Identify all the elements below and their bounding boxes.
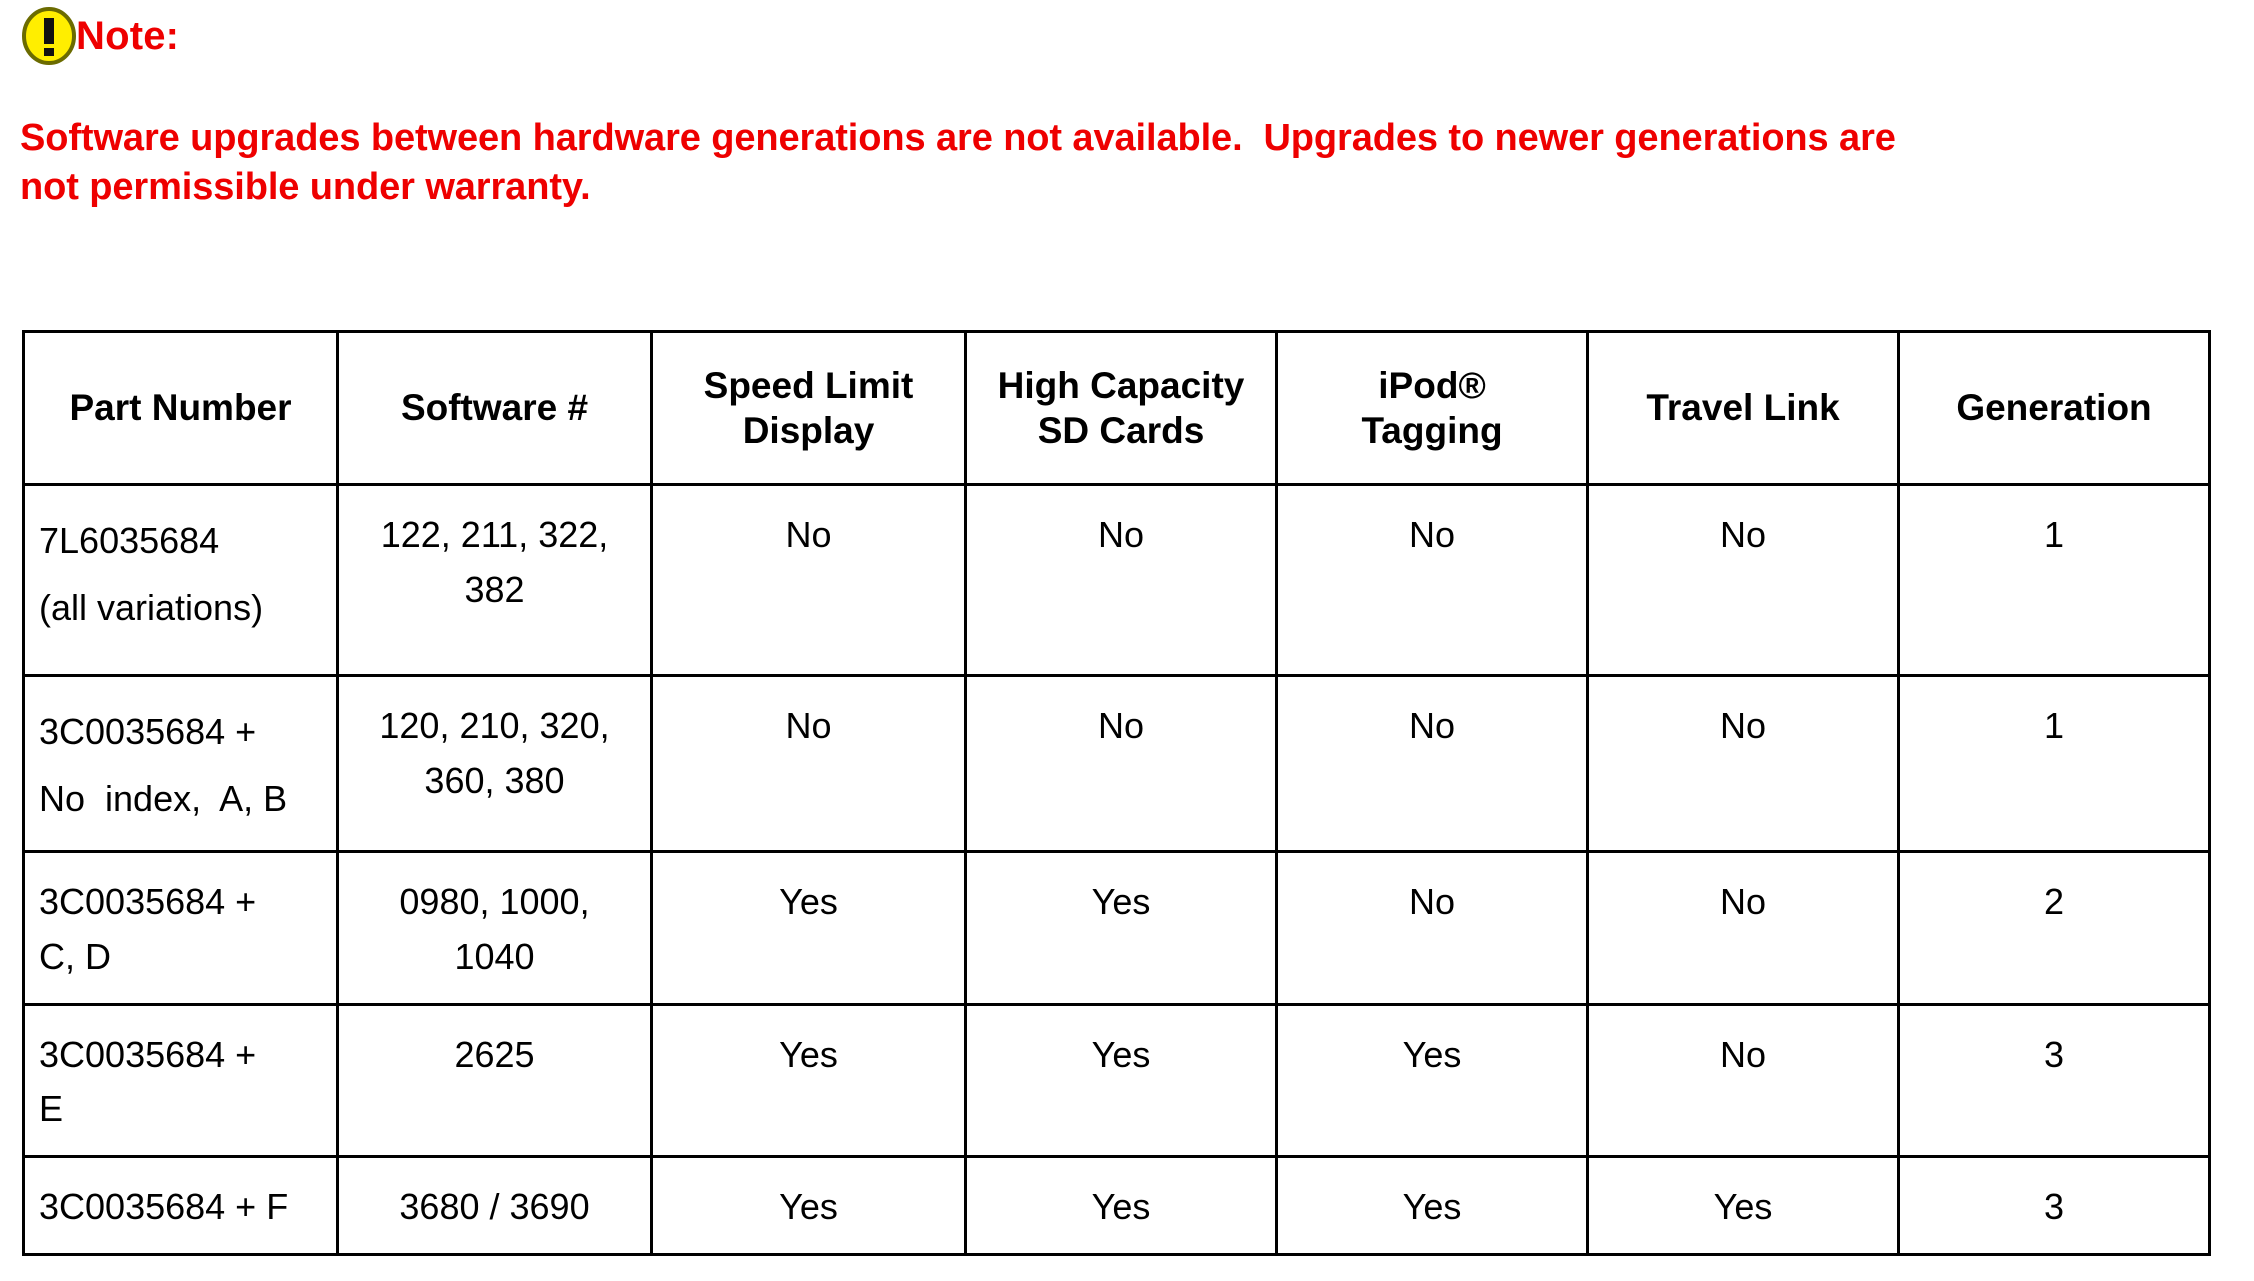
cell-generation: 1: [1899, 676, 2210, 852]
software-line-1: 2625: [353, 1028, 636, 1083]
column-header-high-capacity-sd-cards: High Capacity SD Cards: [966, 332, 1277, 485]
software-line-2: 1040: [353, 930, 636, 985]
cell-speed-limit-display: No: [652, 676, 966, 852]
cell-software-number: 3680 / 3690: [338, 1157, 652, 1255]
cell-part-number: 3C0035684 + No index, A, B: [24, 676, 338, 852]
software-line-1: 122, 211, 322,: [353, 508, 636, 563]
cell-software-number: 0980, 1000, 1040: [338, 852, 652, 1004]
table-row: 3C0035684 + F 3680 / 3690 Yes Yes Yes Ye…: [24, 1157, 2210, 1255]
cell-travel-link: No: [1588, 485, 1899, 676]
cell-high-capacity-sd-cards: No: [966, 676, 1277, 852]
part-number-line-2: E: [39, 1082, 322, 1137]
cell-speed-limit-display: Yes: [652, 852, 966, 1004]
table-row: 3C0035684 + No index, A, B 120, 210, 320…: [24, 676, 2210, 852]
cell-part-number: 3C0035684 + F: [24, 1157, 338, 1255]
part-number-line-1: 3C0035684 +: [39, 699, 322, 766]
software-line-2: 360, 380: [353, 754, 636, 809]
cell-ipod-tagging: No: [1277, 485, 1588, 676]
cell-high-capacity-sd-cards: Yes: [966, 1004, 1277, 1156]
note-heading: Note:: [18, 6, 179, 66]
column-header-speed-limit-display: Speed Limit Display: [652, 332, 966, 485]
cell-generation: 3: [1899, 1157, 2210, 1255]
part-number-line-1: 3C0035684 +: [39, 1028, 322, 1083]
software-line-1: 0980, 1000,: [353, 875, 636, 930]
cell-generation: 1: [1899, 485, 2210, 676]
cell-software-number: 120, 210, 320, 360, 380: [338, 676, 652, 852]
cell-part-number: 7L6035684 (all variations): [24, 485, 338, 676]
cell-high-capacity-sd-cards: No: [966, 485, 1277, 676]
cell-ipod-tagging: No: [1277, 852, 1588, 1004]
cell-travel-link: No: [1588, 1004, 1899, 1156]
column-header-software-number: Software #: [338, 332, 652, 485]
software-line-1: 120, 210, 320,: [353, 699, 636, 754]
part-number-line-1: 3C0035684 + F: [39, 1180, 322, 1235]
cell-travel-link: No: [1588, 676, 1899, 852]
part-number-line-1: 3C0035684 +: [39, 875, 322, 930]
column-header-travel-link: Travel Link: [1588, 332, 1899, 485]
compatibility-table-container: Part Number Software # Speed Limit Displ…: [22, 330, 2208, 1256]
column-header-generation: Generation: [1899, 332, 2210, 485]
warning-paragraph: Software upgrades between hardware gener…: [20, 114, 2140, 211]
cell-high-capacity-sd-cards: Yes: [966, 852, 1277, 1004]
column-header-ipod-tagging: iPod® Tagging: [1277, 332, 1588, 485]
part-number-line-2: No index, A, B: [39, 766, 322, 833]
cell-ipod-tagging: Yes: [1277, 1157, 1588, 1255]
column-header-part-number: Part Number: [24, 332, 338, 485]
cell-high-capacity-sd-cards: Yes: [966, 1157, 1277, 1255]
cell-ipod-tagging: Yes: [1277, 1004, 1588, 1156]
table-row: 3C0035684 + C, D 0980, 1000, 1040 Yes Ye…: [24, 852, 2210, 1004]
cell-speed-limit-display: Yes: [652, 1004, 966, 1156]
cell-software-number: 122, 211, 322, 382: [338, 485, 652, 676]
cell-speed-limit-display: No: [652, 485, 966, 676]
cell-travel-link: No: [1588, 852, 1899, 1004]
part-number-line-2: (all variations): [39, 575, 322, 642]
cell-ipod-tagging: No: [1277, 676, 1588, 852]
software-line-2: 382: [353, 563, 636, 618]
note-label: Note:: [76, 16, 179, 56]
exclamation-circle-icon: [18, 5, 80, 67]
cell-speed-limit-display: Yes: [652, 1157, 966, 1255]
cell-part-number: 3C0035684 + E: [24, 1004, 338, 1156]
cell-part-number: 3C0035684 + C, D: [24, 852, 338, 1004]
compatibility-table: Part Number Software # Speed Limit Displ…: [22, 330, 2211, 1256]
cell-generation: 2: [1899, 852, 2210, 1004]
cell-software-number: 2625: [338, 1004, 652, 1156]
software-line-1: 3680 / 3690: [353, 1180, 636, 1235]
part-number-line-2: C, D: [39, 930, 322, 985]
table-row: 3C0035684 + E 2625 Yes Yes Yes No 3: [24, 1004, 2210, 1156]
table-row: 7L6035684 (all variations) 122, 211, 322…: [24, 485, 2210, 676]
part-number-line-1: 7L6035684: [39, 508, 322, 575]
cell-travel-link: Yes: [1588, 1157, 1899, 1255]
cell-generation: 3: [1899, 1004, 2210, 1156]
table-header-row: Part Number Software # Speed Limit Displ…: [24, 332, 2210, 485]
